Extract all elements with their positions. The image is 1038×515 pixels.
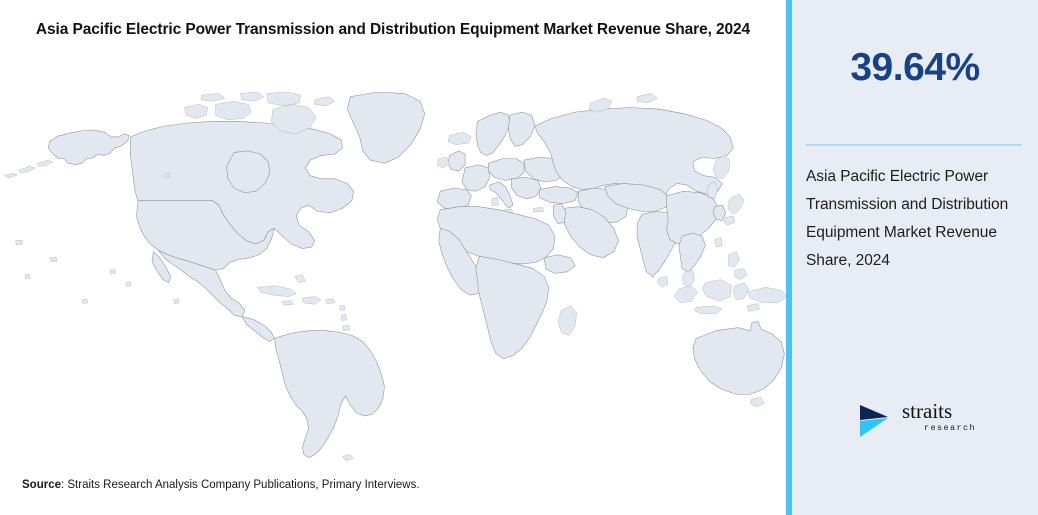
land-jamaica bbox=[282, 300, 293, 305]
land-alaska bbox=[48, 130, 129, 165]
logo-arrow-icon bbox=[858, 401, 898, 441]
land-new-guinea bbox=[747, 287, 786, 303]
map-panel: Asia Pacific Electric Power Transmission… bbox=[0, 0, 786, 515]
land-kamchatka bbox=[713, 156, 730, 179]
land-sri-lanka bbox=[657, 276, 668, 287]
land-japan bbox=[729, 194, 745, 214]
land-puerto-rico bbox=[326, 299, 335, 304]
land-greenland bbox=[347, 92, 425, 163]
land-java bbox=[694, 306, 722, 314]
stat-caption: Asia Pacific Electric Power Transmission… bbox=[806, 163, 1024, 275]
land-scandinavia bbox=[476, 112, 510, 155]
source-note: Source: Straits Research Analysis Compan… bbox=[22, 478, 420, 493]
land-central-america bbox=[242, 317, 275, 342]
land-turkey bbox=[539, 187, 578, 204]
land-pacific-islet-f bbox=[174, 299, 179, 304]
land-japan-kyushu bbox=[724, 216, 735, 225]
land-ireland bbox=[437, 157, 449, 168]
stat-value: 39.64% bbox=[792, 45, 1038, 91]
land-pacific-islet-g bbox=[164, 173, 169, 178]
land-trinidad bbox=[343, 325, 350, 330]
land-lesser-antilles-a bbox=[340, 305, 345, 310]
land-tasmania bbox=[750, 397, 764, 406]
land-lesser-antilles-b bbox=[341, 314, 346, 320]
straits-research-logo: straits research bbox=[858, 399, 978, 445]
source-text: : Straits Research Analysis Company Publ… bbox=[61, 479, 420, 491]
logo-wordmark: straits research bbox=[902, 399, 978, 434]
world-map-svg bbox=[0, 92, 786, 464]
land-cuba bbox=[257, 286, 296, 297]
land-borneo bbox=[702, 280, 731, 302]
land-levant bbox=[553, 204, 565, 224]
land-pacific-islet-e bbox=[82, 299, 87, 304]
land-germany-poland bbox=[488, 159, 524, 181]
land-pacific-islet-a bbox=[16, 240, 23, 245]
straits-logo-mark-icon bbox=[858, 401, 898, 441]
source-label: Source bbox=[22, 479, 61, 491]
land-arctic-islet-c bbox=[315, 97, 335, 106]
land-crete bbox=[533, 207, 543, 212]
land-timor bbox=[747, 304, 759, 312]
logo-word-research: research bbox=[902, 423, 978, 434]
land-hispaniola bbox=[302, 297, 321, 305]
land-ellesmere-island bbox=[267, 92, 301, 106]
land-indochina bbox=[679, 233, 705, 272]
land-malay-peninsula bbox=[682, 270, 694, 287]
land-victoria-island bbox=[216, 101, 252, 120]
logo-word-straits: straits bbox=[902, 399, 978, 423]
land-balkans bbox=[512, 177, 541, 199]
land-sardinia bbox=[491, 197, 498, 206]
land-arctic-islet-a bbox=[240, 92, 263, 101]
world-map bbox=[0, 92, 786, 464]
logo-arrow-top bbox=[860, 405, 888, 420]
land-horn-of-africa bbox=[544, 255, 575, 274]
land-sumatra bbox=[674, 286, 697, 303]
land-philippines-luzon bbox=[729, 252, 740, 268]
land-australia bbox=[693, 321, 784, 394]
land-france-benelux bbox=[462, 165, 490, 191]
land-british-isles-gb bbox=[448, 151, 465, 171]
land-severnaya-zemlya bbox=[637, 94, 657, 103]
land-madagascar bbox=[558, 306, 577, 335]
land-hawaii bbox=[50, 257, 58, 262]
land-philippines-mindanao bbox=[735, 269, 747, 280]
land-taiwan bbox=[715, 238, 723, 247]
land-pacific-islet-d bbox=[126, 282, 131, 287]
infographic-screenshot: Asia Pacific Electric Power Transmission… bbox=[0, 0, 1038, 515]
land-aleutians-b bbox=[19, 166, 36, 172]
land-iceland bbox=[448, 132, 471, 144]
logo-arrow-bottom bbox=[860, 418, 888, 437]
land-banks-island bbox=[185, 104, 208, 118]
land-aleutians-a bbox=[37, 160, 53, 166]
land-bahamas bbox=[295, 275, 306, 283]
land-falkland-islands bbox=[343, 455, 354, 461]
map-landmasses bbox=[5, 92, 786, 461]
land-central-southern-africa bbox=[476, 256, 549, 358]
page-title: Asia Pacific Electric Power Transmission… bbox=[0, 16, 786, 44]
stat-divider-line bbox=[806, 144, 1022, 146]
land-arctic-islet-b bbox=[202, 94, 225, 102]
land-pacific-islet-b bbox=[25, 274, 30, 279]
land-pacific-islet-c bbox=[110, 269, 115, 274]
land-sulawesi bbox=[733, 283, 749, 300]
land-finland-karelia bbox=[508, 112, 534, 146]
land-south-america bbox=[274, 331, 384, 458]
land-aleutians-c bbox=[5, 173, 17, 178]
